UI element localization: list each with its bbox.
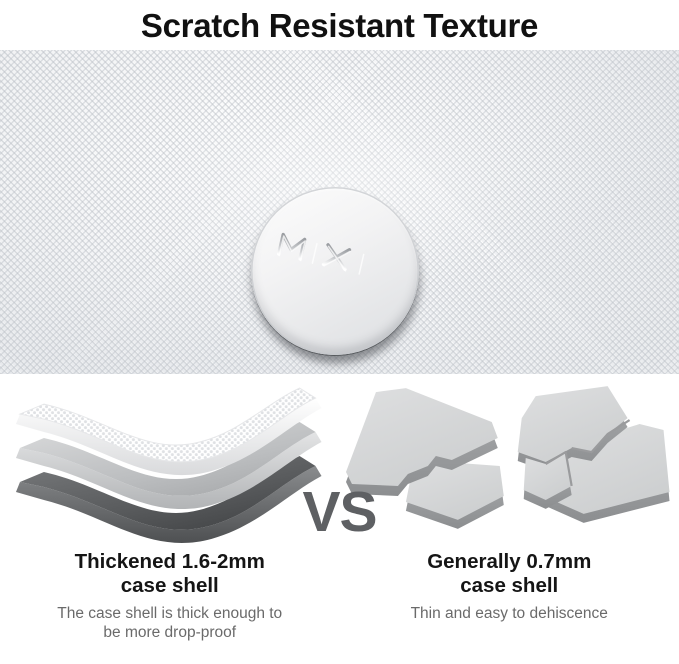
left-caption-subtitle: The case shell is thick enough to be mor… xyxy=(57,605,282,643)
hero-product-photo xyxy=(0,50,679,374)
page-title: Scratch Resistant Texture xyxy=(141,9,538,42)
mixi-logo-icon xyxy=(271,227,399,309)
right-caption-title: Generally 0.7mm case shell xyxy=(427,550,591,598)
page-header: Scratch Resistant Texture xyxy=(0,0,679,50)
brand-badge xyxy=(251,187,424,360)
comparison-right-column: Generally 0.7mm case shell Thin and easy… xyxy=(340,374,679,664)
cracked-shell-icon xyxy=(340,374,679,552)
left-caption-title: Thickened 1.6-2mm case shell xyxy=(75,550,265,598)
layered-shell-icon xyxy=(0,374,340,552)
comparison-left-column: Thickened 1.6-2mm case shell The case sh… xyxy=(0,374,340,664)
right-caption-subtitle: Thin and easy to dehiscence xyxy=(411,605,608,624)
comparison-section: Thickened 1.6-2mm case shell The case sh… xyxy=(0,374,679,664)
